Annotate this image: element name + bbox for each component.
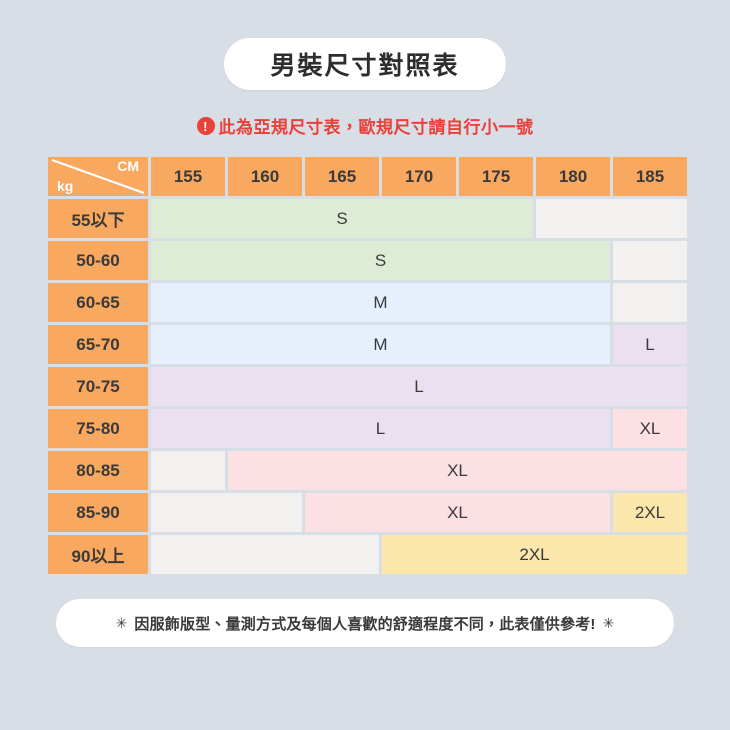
column-header-185: 185: [613, 157, 687, 196]
size-cell-XL: XL: [613, 409, 687, 448]
row-header-90以上: 90以上: [48, 535, 148, 574]
column-header-160: 160: [228, 157, 302, 196]
corner-cell: CMkg: [48, 157, 148, 196]
empty-cell: [536, 199, 687, 238]
size-cell-L: L: [151, 367, 687, 406]
column-header-175: 175: [459, 157, 533, 196]
star-right-icon: ✳: [603, 615, 615, 632]
corner-cm-label: CM: [117, 159, 139, 173]
empty-cell: [151, 451, 225, 490]
table-row: 60-65M: [48, 283, 687, 322]
size-cell-L: L: [151, 409, 610, 448]
row-header-65-70: 65-70: [48, 325, 148, 364]
column-header-165: 165: [305, 157, 379, 196]
size-chart-page: 男裝尺寸對照表 ! 此為亞規尺寸表，歐規尺寸請自行小一號 CMkg1551601…: [0, 0, 730, 730]
star-left-icon: ✳: [116, 615, 128, 632]
row-header-75-80: 75-80: [48, 409, 148, 448]
size-cell-M: M: [151, 325, 610, 364]
empty-cell: [151, 493, 302, 532]
table-header-row: CMkg155160165170175180185: [48, 157, 687, 196]
exclamation-circle-icon: !: [197, 117, 215, 135]
size-cell-XL: XL: [228, 451, 687, 490]
table-row: 85-90XL2XL: [48, 493, 687, 532]
table-row: 65-70ML: [48, 325, 687, 364]
footer-pill: ✳ 因服飾版型、量測方式及每個人喜歡的舒適程度不同，此表僅供參考! ✳: [56, 599, 674, 647]
column-header-180: 180: [536, 157, 610, 196]
table-row: 70-75L: [48, 367, 687, 406]
corner-kg-label: kg: [57, 179, 73, 193]
empty-cell: [151, 535, 379, 574]
size-cell-2XL: 2XL: [613, 493, 687, 532]
size-cell-S: S: [151, 199, 533, 238]
footer-note: 因服飾版型、量測方式及每個人喜歡的舒適程度不同，此表僅供參考!: [134, 613, 595, 634]
title-pill: 男裝尺寸對照表: [224, 38, 505, 90]
column-header-155: 155: [151, 157, 225, 196]
size-cell-2XL: 2XL: [382, 535, 687, 574]
empty-cell: [613, 283, 687, 322]
column-header-170: 170: [382, 157, 456, 196]
empty-cell: [613, 241, 687, 280]
warning-text: 此為亞規尺寸表，歐規尺寸請自行小一號: [219, 113, 534, 138]
title-container: 男裝尺寸對照表: [224, 38, 505, 90]
page-title: 男裝尺寸對照表: [270, 46, 459, 82]
table-row: 80-85XL: [48, 451, 687, 490]
size-cell-M: M: [151, 283, 610, 322]
table-row: 50-60S: [48, 241, 687, 280]
table-row: 90以上2XL: [48, 535, 687, 574]
size-cell-S: S: [151, 241, 610, 280]
row-header-55以下: 55以下: [48, 199, 148, 238]
warning-banner: ! 此為亞規尺寸表，歐規尺寸請自行小一號: [197, 112, 534, 138]
size-cell-XL: XL: [305, 493, 610, 532]
size-cell-L: L: [613, 325, 687, 364]
table-row: 75-80LXL: [48, 409, 687, 448]
row-header-60-65: 60-65: [48, 283, 148, 322]
row-header-50-60: 50-60: [48, 241, 148, 280]
row-header-85-90: 85-90: [48, 493, 148, 532]
size-table-container: CMkg15516016517017518018555以下S50-60S60-6…: [45, 154, 685, 577]
footer-container: ✳ 因服飾版型、量測方式及每個人喜歡的舒適程度不同，此表僅供參考! ✳: [56, 599, 674, 647]
row-header-70-75: 70-75: [48, 367, 148, 406]
row-header-80-85: 80-85: [48, 451, 148, 490]
table-row: 55以下S: [48, 199, 687, 238]
size-table: CMkg15516016517017518018555以下S50-60S60-6…: [45, 154, 690, 577]
